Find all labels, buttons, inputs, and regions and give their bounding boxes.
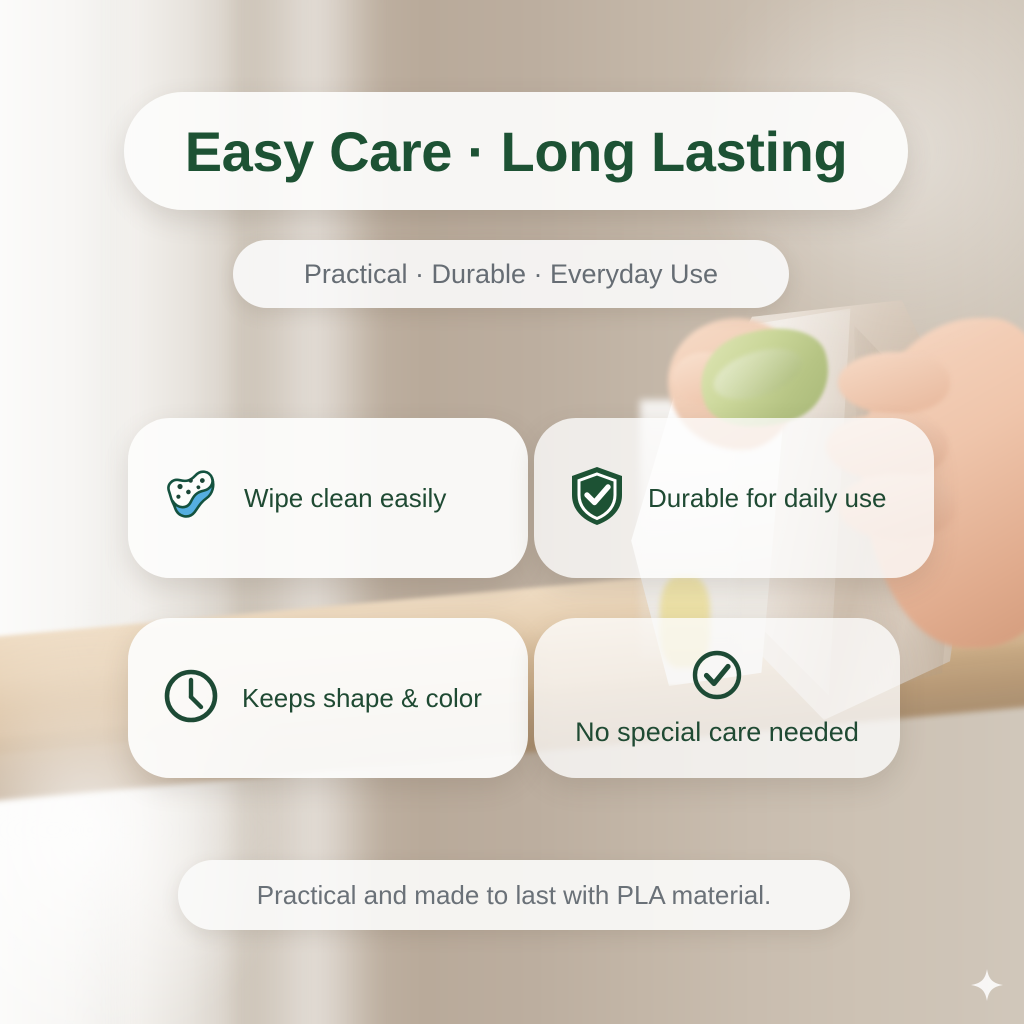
sparkle-icon bbox=[970, 968, 1004, 1002]
feature-label-durable: Durable for daily use bbox=[648, 483, 886, 514]
check-circle-icon bbox=[690, 648, 744, 707]
subtitle-pill: Practical · Durable · Everyday Use bbox=[233, 240, 789, 308]
feature-label-keeps-shape: Keeps shape & color bbox=[242, 683, 482, 714]
page-subtitle: Practical · Durable · Everyday Use bbox=[304, 259, 718, 290]
sponge-icon bbox=[162, 470, 222, 527]
footer-text: Practical and made to last with PLA mate… bbox=[257, 880, 771, 911]
feature-card-keeps-shape[interactable]: Keeps shape & color bbox=[128, 618, 528, 778]
infographic-canvas: Easy Care · Long Lasting Practical · Dur… bbox=[0, 0, 1024, 1024]
clock-icon bbox=[162, 667, 220, 730]
finger-index bbox=[838, 352, 950, 414]
feature-card-no-special-care[interactable]: No special care needed bbox=[534, 618, 900, 778]
feature-card-wipe-clean[interactable]: Wipe clean easily bbox=[128, 418, 528, 578]
page-title: Easy Care · Long Lasting bbox=[185, 119, 848, 184]
title-pill: Easy Care · Long Lasting bbox=[124, 92, 908, 210]
footer-pill: Practical and made to last with PLA mate… bbox=[178, 860, 850, 930]
feature-label-no-special-care: No special care needed bbox=[575, 717, 859, 748]
shield-check-icon bbox=[568, 465, 626, 532]
feature-card-durable[interactable]: Durable for daily use bbox=[534, 418, 934, 578]
feature-label-wipe-clean: Wipe clean easily bbox=[244, 483, 446, 514]
